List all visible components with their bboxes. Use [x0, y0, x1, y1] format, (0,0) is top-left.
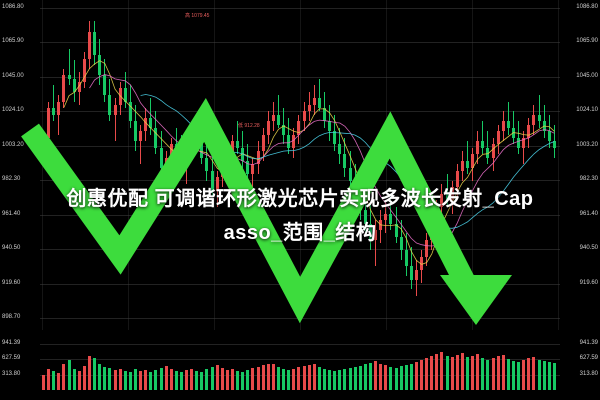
volume-bar	[313, 364, 316, 390]
low-price-annotation: 低 912.28	[238, 122, 260, 129]
overlay-headline-line1: 创惠优配 可调谐环形激光芯片实现多波长发射_Cap	[0, 182, 600, 216]
volume-bar	[226, 370, 229, 390]
volume-bar	[430, 356, 433, 390]
volume-bar	[323, 369, 326, 390]
volume-bar	[359, 366, 362, 390]
volume-bar	[236, 371, 239, 390]
volume-bar	[272, 364, 275, 390]
volume-bar	[180, 372, 183, 390]
volume-bar	[538, 360, 541, 390]
volume-bar	[216, 365, 219, 390]
volume-bar	[200, 372, 203, 390]
volume-bar	[318, 367, 321, 390]
volume-bar	[364, 364, 367, 390]
volume-bar	[492, 358, 495, 390]
volume-bar	[108, 368, 111, 390]
volume-bar	[502, 355, 505, 390]
volume-bar	[103, 367, 106, 390]
volume-bar	[287, 370, 290, 390]
volume-bar	[73, 369, 76, 390]
volume-bar	[395, 368, 398, 390]
volume-bar	[241, 372, 244, 390]
volume-bar	[400, 366, 403, 390]
volume-bar	[195, 371, 198, 390]
volume-bar	[440, 352, 443, 390]
volume-bar	[190, 369, 193, 390]
volume-bar	[369, 363, 372, 390]
volume-bar	[144, 370, 147, 390]
volume-bar	[548, 362, 551, 390]
overlay-headline: 创惠优配 可调谐环形激光芯片实现多波长发射_Cap asso_范围_结构	[0, 182, 600, 250]
volume-bar	[471, 356, 474, 390]
volume-bar	[78, 371, 81, 390]
volume-bar	[149, 372, 152, 390]
volume-bar	[532, 357, 535, 390]
volume-bar	[292, 369, 295, 390]
volume-bar	[543, 361, 546, 390]
volume-bar	[512, 361, 515, 390]
volume-bar	[451, 357, 454, 390]
volume-bar	[374, 361, 377, 390]
volume-bar	[124, 371, 127, 390]
volume-bar	[88, 356, 91, 390]
volume-chart-pane: 941.39941.39627.59627.59313.80313.80	[0, 330, 600, 400]
volume-bar	[466, 357, 469, 390]
volume-tick-left: 313.80	[2, 371, 20, 378]
volume-bar	[257, 367, 260, 390]
volume-bar	[461, 353, 464, 390]
volume-bar	[389, 367, 392, 390]
volume-bar	[415, 362, 418, 390]
volume-bar	[98, 364, 101, 390]
volume-bar	[517, 362, 520, 390]
volume-bar	[267, 364, 270, 391]
volume-tick-left: 941.39	[2, 340, 20, 347]
volume-bar	[52, 371, 55, 390]
volume-bar	[134, 369, 137, 390]
volume-bar	[154, 370, 157, 390]
volume-bar	[308, 365, 311, 390]
volume-bar	[553, 363, 556, 390]
volume-bar	[231, 369, 234, 390]
volume-bar	[165, 366, 168, 390]
volume-bar	[170, 369, 173, 390]
volume-bar	[205, 369, 208, 390]
volume-bar	[83, 366, 86, 390]
volume-bar	[522, 360, 525, 390]
volume-bar	[354, 367, 357, 390]
volume-gridline	[40, 344, 560, 345]
volume-tick-right: 941.39	[580, 340, 598, 347]
volume-bar	[62, 364, 65, 390]
stock-chart-screenshot: 1086.801065.901045.001024.101003.20982.3…	[0, 0, 600, 400]
volume-bar	[384, 365, 387, 390]
volume-bar	[456, 355, 459, 390]
volume-bar	[251, 368, 254, 390]
volume-bar	[297, 367, 300, 390]
volume-bar	[47, 369, 50, 390]
volume-bar	[57, 373, 60, 390]
volume-bar	[175, 371, 178, 390]
volume-bar	[303, 366, 306, 390]
volume-bar	[349, 368, 352, 390]
volume-bar	[338, 370, 341, 390]
volume-bar	[119, 369, 122, 390]
volume-bar	[425, 358, 428, 390]
volume-bar	[497, 356, 500, 390]
volume-bar	[246, 370, 249, 390]
volume-bar	[42, 375, 45, 390]
volume-bar	[405, 365, 408, 390]
volume-bar	[68, 360, 71, 390]
volume-bar	[277, 367, 280, 390]
volume-tick-right: 627.59	[580, 355, 598, 362]
high-price-annotation: 高 1079.45	[185, 12, 209, 19]
volume-tick-left: 627.59	[2, 355, 20, 362]
volume-tick-right: 313.80	[580, 371, 598, 378]
volume-bar	[221, 368, 224, 390]
volume-bar	[343, 369, 346, 390]
volume-bar	[114, 370, 117, 390]
volume-bar	[435, 354, 438, 390]
volume-bar	[420, 360, 423, 390]
volume-bar	[507, 359, 510, 390]
volume-bar	[185, 370, 188, 390]
volume-bar	[160, 368, 163, 390]
volume-bar	[129, 372, 132, 390]
volume-bar	[446, 356, 449, 390]
volume-bar	[486, 360, 489, 390]
volume-bar	[476, 354, 479, 390]
moving-average-lines	[0, 0, 600, 330]
volume-bar	[410, 364, 413, 391]
volume-bar	[282, 369, 285, 390]
volume-bar	[379, 364, 382, 391]
volume-bar	[93, 358, 96, 390]
volume-bar	[211, 367, 214, 390]
volume-bar	[262, 365, 265, 390]
price-chart-pane: 1086.801065.901045.001024.101003.20982.3…	[0, 0, 600, 330]
volume-bar	[333, 371, 336, 390]
overlay-headline-line2: asso_范围_结构	[0, 216, 600, 250]
volume-bar	[328, 370, 331, 390]
volume-bar	[527, 358, 530, 390]
volume-bar	[481, 358, 484, 390]
volume-bar	[139, 371, 142, 390]
